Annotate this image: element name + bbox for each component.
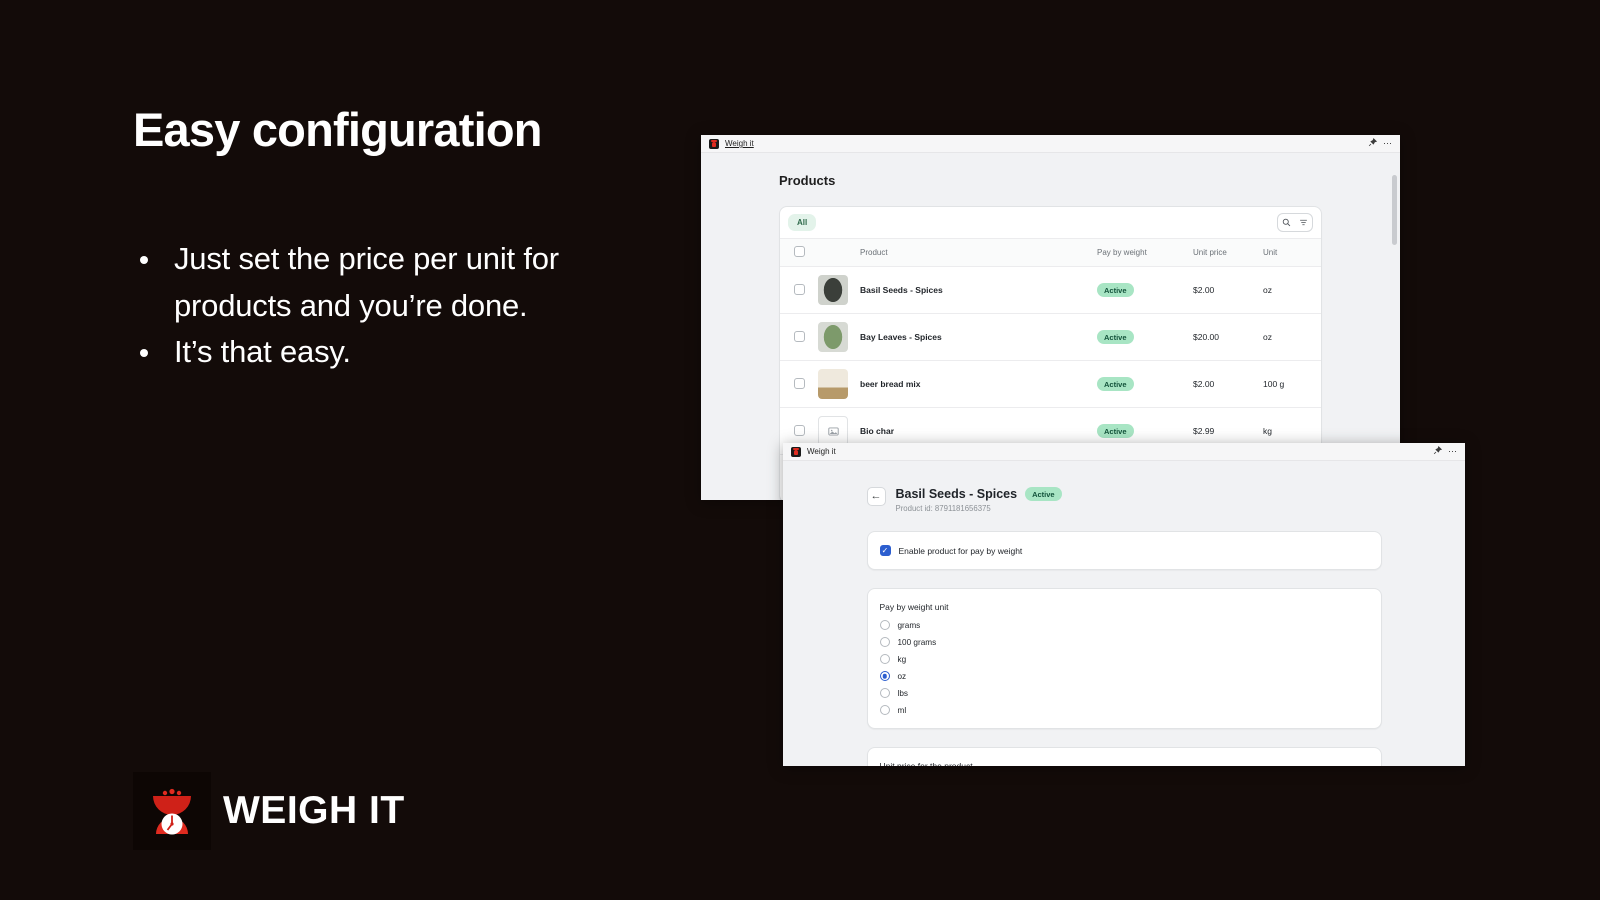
row-checkbox[interactable] (794, 378, 805, 389)
status-badge: Active (1097, 330, 1134, 344)
product-detail-window[interactable]: Weigh it ⋯ ← Basil Seeds - Spices Active (783, 443, 1465, 766)
select-all-checkbox[interactable] (794, 246, 805, 257)
select-all-header (780, 239, 814, 267)
product-image-placeholder-icon (818, 416, 848, 446)
row-name-cell: beer bread mix (856, 361, 1093, 408)
status-badge: Active (1097, 283, 1134, 297)
product-name: Basil Seeds - Spices (860, 285, 943, 295)
radio-label: 100 grams (898, 638, 937, 647)
product-id-label: Product id: 8791181656375 (896, 504, 1062, 513)
search-icon[interactable] (1278, 214, 1295, 231)
detail-page: ← Basil Seeds - Spices Active Product id… (783, 461, 1465, 766)
row-status-cell: Active (1093, 314, 1189, 361)
radio-option-oz[interactable]: oz (880, 671, 1369, 681)
window-title: Weigh it (725, 139, 754, 148)
toolbar-icon-group (1277, 213, 1313, 232)
radio-icon[interactable] (880, 654, 890, 664)
radio-icon-selected[interactable] (880, 671, 890, 681)
unit-panel: Pay by weight unit grams 100 grams kg (867, 588, 1382, 729)
price-panel: Unit price for the product (867, 747, 1382, 766)
enable-panel: ✓ Enable product for pay by weight (867, 531, 1382, 570)
slide-canvas: Easy configuration Just set the price pe… (0, 0, 1600, 900)
image-header (814, 239, 856, 267)
ellipsis-icon[interactable]: ⋯ (1383, 139, 1392, 148)
list-item: Just set the price per unit for products… (133, 236, 673, 329)
brand-logo: WEIGH IT (133, 772, 405, 850)
pay-by-weight-header: Pay by weight (1093, 239, 1189, 267)
brand-name: WEIGH IT (223, 789, 405, 833)
row-select-cell (780, 361, 814, 408)
row-unit-cell: 100 g (1259, 361, 1321, 408)
detail-header: ← Basil Seeds - Spices Active Product id… (867, 487, 1382, 513)
product-name: beer bread mix (860, 379, 920, 389)
status-badge: Active (1025, 487, 1062, 501)
pin-icon[interactable] (1433, 446, 1442, 457)
radio-label: kg (898, 655, 907, 664)
table-row[interactable]: Basil Seeds - Spices Active $2.00 oz (780, 267, 1321, 314)
radio-icon[interactable] (880, 620, 890, 630)
bullet-list: Just set the price per unit for products… (133, 236, 673, 376)
row-status-cell: Active (1093, 361, 1189, 408)
row-price-cell: $2.00 (1189, 267, 1259, 314)
status-badge: Active (1097, 424, 1134, 438)
product-name: Bay Leaves - Spices (860, 332, 942, 342)
table-header-row: Product Pay by weight Unit price Unit (780, 239, 1321, 267)
enable-checkbox-label: Enable product for pay by weight (899, 546, 1023, 556)
products-window-titlebar[interactable]: Weigh it ⋯ (701, 135, 1400, 153)
radio-label: lbs (898, 689, 908, 698)
row-checkbox[interactable] (794, 331, 805, 342)
ellipsis-icon[interactable]: ⋯ (1448, 447, 1457, 456)
radio-option-lbs[interactable]: lbs (880, 688, 1369, 698)
scale-icon (133, 772, 211, 850)
radio-icon[interactable] (880, 637, 890, 647)
table-row[interactable]: Bay Leaves - Spices Active $20.00 oz (780, 314, 1321, 361)
detail-title-block: Basil Seeds - Spices Active Product id: … (896, 487, 1062, 513)
radio-icon[interactable] (880, 705, 890, 715)
enable-checkbox[interactable]: ✓ (880, 545, 891, 556)
status-badge: Active (1097, 377, 1134, 391)
radio-label: grams (898, 621, 921, 630)
radio-option-kg[interactable]: kg (880, 654, 1369, 664)
filter-icon[interactable] (1295, 214, 1312, 231)
row-thumb-cell (814, 361, 856, 408)
product-thumbnail (818, 275, 848, 305)
radio-option-ml[interactable]: ml (880, 705, 1369, 715)
vertical-scrollbar[interactable] (1392, 175, 1397, 245)
enable-checkbox-row[interactable]: ✓ Enable product for pay by weight (880, 545, 1369, 556)
row-price-cell: $20.00 (1189, 314, 1259, 361)
row-status-cell: Active (1093, 267, 1189, 314)
row-checkbox[interactable] (794, 425, 805, 436)
unit-header: Unit (1259, 239, 1321, 267)
unit-group-label: Pay by weight unit (880, 602, 1369, 612)
window-title: Weigh it (807, 447, 836, 456)
detail-window-titlebar[interactable]: Weigh it ⋯ (783, 443, 1465, 461)
radio-icon[interactable] (880, 688, 890, 698)
tab-all[interactable]: All (788, 214, 816, 231)
unit-price-label: Unit price for the product (880, 761, 1369, 766)
row-unit-cell: oz (1259, 314, 1321, 361)
row-checkbox[interactable] (794, 284, 805, 295)
radio-label: ml (898, 706, 907, 715)
row-name-cell: Basil Seeds - Spices (856, 267, 1093, 314)
list-item: It’s that easy. (133, 329, 673, 376)
row-price-cell: $2.00 (1189, 361, 1259, 408)
detail-window-body: ← Basil Seeds - Spices Active Product id… (783, 461, 1465, 766)
row-unit-cell: oz (1259, 267, 1321, 314)
product-thumbnail (818, 322, 848, 352)
row-name-cell: Bay Leaves - Spices (856, 314, 1093, 361)
row-select-cell (780, 314, 814, 361)
table-row[interactable]: beer bread mix Active $2.00 100 g (780, 361, 1321, 408)
radio-label: oz (898, 672, 907, 681)
radio-option-grams[interactable]: grams (880, 620, 1369, 630)
product-title: Basil Seeds - Spices (896, 487, 1018, 501)
row-thumb-cell (814, 267, 856, 314)
product-thumbnail (818, 369, 848, 399)
arrow-left-icon[interactable]: ← (867, 487, 886, 506)
product-name: Bio char (860, 426, 894, 436)
product-header: Product (856, 239, 1093, 267)
row-select-cell (780, 267, 814, 314)
unit-price-header: Unit price (1189, 239, 1259, 267)
pin-icon[interactable] (1368, 138, 1377, 149)
radio-option-100-grams[interactable]: 100 grams (880, 637, 1369, 647)
page-title: Easy configuration (133, 104, 542, 156)
detail-title-row: Basil Seeds - Spices Active (896, 487, 1062, 501)
app-favicon-icon (791, 447, 801, 457)
detail-content: ← Basil Seeds - Spices Active Product id… (867, 487, 1382, 766)
products-toolbar: All (780, 207, 1321, 239)
app-favicon-icon (709, 139, 719, 149)
row-thumb-cell (814, 314, 856, 361)
products-heading: Products (779, 173, 1322, 188)
